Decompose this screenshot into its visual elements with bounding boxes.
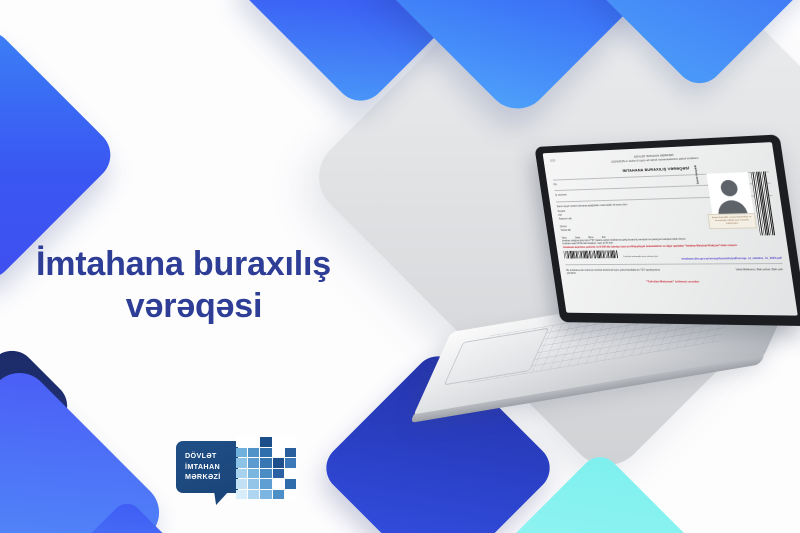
mosaic-tile-6 [248, 448, 259, 458]
mosaic-tile-19 [285, 469, 296, 479]
logo-mosaic-icon [236, 437, 296, 499]
footer-right-text: Vahid Ələkbərov, Bakı şəhəri, Bakı şəh. [677, 268, 784, 276]
footer-red-text: "Təfsilat Məlumat" bölməsi yoxdur [568, 279, 786, 283]
mosaic-tile-14 [285, 458, 296, 468]
footer-left-text: Bu imtahana aid məlumat növbəti ötürülmə… [566, 268, 665, 275]
document-footer: Bu imtahana aid məlumat növbəti ötürülmə… [566, 268, 784, 276]
laptop-screen[interactable]: 2025 DÖVLƏT İMTAHAN MƏRKƏZİ 2024/2025-ci… [543, 142, 798, 316]
mosaic-tile-3 [273, 437, 284, 447]
mosaic-tile-2 [260, 437, 271, 447]
logo-line-1: DÖVLƏT [176, 441, 238, 462]
mosaic-tile-10 [236, 458, 247, 468]
mosaic-tile-12 [260, 458, 271, 468]
mosaic-tile-4 [285, 437, 296, 447]
mosaic-tile-23 [273, 479, 284, 489]
mosaic-tile-9 [285, 448, 296, 458]
mosaic-tile-25 [236, 490, 247, 500]
mosaic-tile-29 [285, 490, 296, 500]
mosaic-tile-24 [285, 479, 296, 489]
mosaic-tile-0 [236, 437, 247, 447]
link-label: Təfsilatlı məlumatla tanış olmaq üçün: [623, 256, 659, 258]
laptop-lid: 2025 DÖVLƏT İMTAHAN MƏRKƏZİ 2024/2025-ci… [534, 134, 800, 326]
photo-barcode-block: Şəxsin fotoşəkili Şəxsin fotoşəkili, vəs… [698, 171, 777, 246]
mosaic-tile-7 [260, 448, 271, 458]
mosaic-tile-26 [248, 490, 259, 500]
mosaic-tile-28 [273, 490, 284, 500]
mosaic-tile-15 [236, 469, 247, 479]
laptop-device: 2025 DÖVLƏT İMTAHAN MƏRKƏZİ 2024/2025-ci… [432, 140, 792, 390]
dim-logo: DÖVLƏT İMTAHAN MƏRKƏZİ [176, 437, 298, 509]
mosaic-tile-8 [273, 448, 284, 458]
mosaic-tile-13 [273, 458, 284, 468]
mosaic-tile-20 [236, 479, 247, 489]
logo-line-3: MƏRKƏZİ [176, 472, 238, 483]
mosaic-tile-22 [260, 479, 271, 489]
logo-line-2: İMTAHAN [176, 462, 238, 473]
poster-canvas: İmtahana buraxılış vərəqəsi DÖVLƏT İMTAH… [0, 0, 800, 533]
barcode-horizontal-icon [564, 251, 619, 259]
mosaic-tile-16 [248, 469, 259, 479]
person-head-icon [720, 180, 739, 197]
divider [566, 263, 783, 265]
logo-speech-bubble: DÖVLƏT İMTAHAN MƏRKƏZİ [176, 441, 238, 493]
document-corner-code: 2025 [550, 159, 556, 162]
mosaic-tile-18 [273, 469, 284, 479]
mosaic-tile-1 [248, 437, 259, 447]
page-title: İmtahana buraxılış vərəqəsi [36, 243, 396, 327]
photo-callout: Şəxsin fotoşəkili, vəsiqə məlumatları və… [707, 213, 757, 229]
headline-line-2: vərəqəsi [36, 285, 396, 327]
mosaic-tile-5 [236, 448, 247, 458]
mosaic-tile-21 [248, 479, 259, 489]
mosaic-tile-27 [260, 490, 271, 500]
square-bottom-left [0, 360, 172, 533]
mosaic-tile-17 [260, 469, 271, 479]
mosaic-tile-11 [248, 458, 259, 468]
headline-line-1: İmtahana buraxılış [36, 243, 396, 285]
admission-document: 2025 DÖVLƏT İMTAHAN MƏRKƏZİ 2024/2025-ci… [550, 149, 790, 310]
